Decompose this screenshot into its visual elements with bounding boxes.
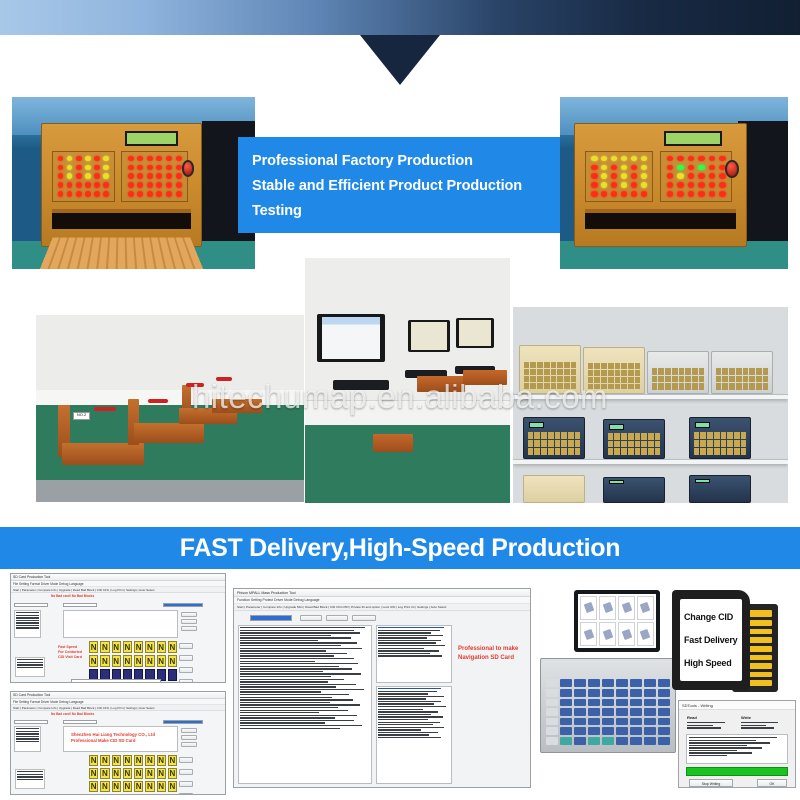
keyboard-1: [333, 380, 389, 390]
sd-feature-change-cid: Change CID: [684, 612, 738, 622]
machine-card-slot: [585, 209, 736, 228]
slot-cell: N: [145, 755, 154, 766]
duplicator-grey-2: [711, 351, 773, 394]
slot-cell: N: [168, 794, 177, 795]
programmer-slot-grid: [546, 679, 669, 744]
photo-shelf-back: [513, 307, 788, 503]
slot-cell: N: [112, 781, 121, 792]
slot-cell: N: [123, 641, 132, 653]
photo-shelf-edge: [36, 390, 304, 405]
log-pane-left[interactable]: [14, 610, 41, 638]
promo-line-1: Professional Factory Production: [252, 149, 546, 174]
window-title-bar-center[interactable]: Phison MPALL Mass Production Tool: [234, 589, 530, 597]
duplicator-lcd: [529, 422, 545, 428]
slot-cell: N: [145, 794, 154, 795]
slot-cell: N: [145, 768, 154, 779]
promo-text-overlay: Professional Factory Production Stable a…: [238, 137, 560, 233]
log-pane-left-center[interactable]: [238, 625, 372, 784]
slot-cell: N: [123, 781, 132, 792]
dialog-progress-bar: [686, 767, 788, 776]
slot-cell: N: [100, 794, 109, 795]
promo-line-3: Testing: [252, 199, 546, 224]
grid-side-button-2[interactable]: [179, 655, 193, 661]
company-note: Shenzhen Hui Liang Technology CO., Ltd P…: [71, 732, 178, 744]
slot-cell: N: [134, 768, 143, 779]
led-grid-right: [665, 155, 727, 198]
grid-side-button-3[interactable]: [179, 667, 193, 673]
slot-cell: N: [168, 641, 177, 653]
window-body-center: Professional to make Navigation SD Card: [234, 611, 530, 787]
grid-side-button-1[interactable]: [179, 757, 193, 763]
led-panel-right: [660, 151, 732, 202]
machine-body: [574, 123, 747, 247]
led-grid-right: [126, 155, 183, 198]
slot-cell: N: [134, 794, 143, 795]
duplicator-grey-1: [647, 351, 709, 394]
machine-card-slot: [52, 209, 191, 228]
duplicator-navy-1: [523, 417, 585, 459]
grid-side-button-4[interactable]: [179, 679, 193, 683]
slot-cell: N: [145, 641, 154, 653]
window-title-bar-bottom[interactable]: SD Card Production Tool: [11, 692, 225, 699]
programmer-base-unit: [540, 658, 676, 753]
programmer-monitor: [574, 590, 660, 652]
log-pane-main[interactable]: [63, 610, 178, 638]
duplicator-slot-grid: [652, 368, 705, 389]
duplicator-lcd: [695, 422, 711, 428]
slot-cell: N: [123, 755, 132, 766]
dialog-ok-button[interactable]: OK: [757, 779, 787, 787]
card-preview: [580, 596, 597, 620]
card-preview: [637, 622, 654, 646]
toolbar-button-3[interactable]: [181, 626, 197, 631]
monitor-2: [408, 320, 450, 352]
photo-shelf-duplicators: [513, 307, 788, 503]
speed-note-line2: For Contorted: [58, 650, 82, 655]
fixture-1-base: [62, 443, 144, 465]
slot-cell-selected: [168, 669, 177, 681]
photo-test-machine-right: [560, 97, 788, 269]
slot-cell: N: [145, 781, 154, 792]
progress-dialog[interactable]: SDTools - Writing Read Write Stop Writin…: [678, 700, 796, 788]
slot-cell: N: [157, 655, 166, 667]
slot-cell: N: [134, 781, 143, 792]
monitor-3: [456, 318, 494, 348]
duplicator-navy-2: [603, 419, 665, 459]
bench-fixture-1: [417, 376, 465, 392]
sd-feature-high-speed: High Speed: [684, 658, 738, 668]
slot-cell: N: [100, 641, 109, 653]
log-pane-right-center[interactable]: [376, 625, 452, 683]
duplicator-beige-3: [523, 475, 585, 503]
photo-test-machine-left: [12, 97, 255, 269]
card-slot-grid-top[interactable]: NNNNNNNN NNNNNNNN NNNNNNNN: [89, 641, 177, 683]
bench-fixture-2: [463, 370, 507, 385]
monitor-2-screen: [411, 322, 447, 350]
device-dropdown[interactable]: [250, 615, 292, 621]
led-grid-left: [56, 155, 110, 198]
photo-floor: [36, 480, 304, 502]
slot-cell: N: [123, 655, 132, 667]
status-bar-field[interactable]: [71, 679, 161, 683]
slot-cell: N: [112, 794, 121, 795]
company-tagline: Professional Make CID SD Card: [71, 738, 178, 744]
photo-wall: [36, 315, 304, 390]
page-root: Professional Factory Production Stable a…: [0, 0, 800, 800]
slot-cell: N: [89, 794, 98, 795]
duplicator-slot-grid: [524, 362, 577, 389]
duplicator-beige-1: [519, 345, 581, 394]
dialog-write-stats: [741, 722, 789, 730]
fast-delivery-text: FAST Delivery,High-Speed Production: [180, 534, 621, 563]
photo-workstation: [305, 258, 510, 503]
software-window-center[interactable]: Phison MPALL Mass Production Tool Functi…: [233, 588, 531, 788]
navigation-card-note: Professional to make Navigation SD Card: [458, 645, 518, 663]
grid-side-button-3[interactable]: [179, 781, 193, 787]
duplicator-navy-5: [689, 475, 751, 503]
slot-cell: N: [134, 641, 143, 653]
duplicator-slot-grid: [528, 432, 581, 455]
slot-cell: N: [112, 655, 121, 667]
card-preview: [599, 596, 616, 620]
fixture-2-base: [134, 423, 204, 443]
slot-cell: N: [157, 768, 166, 779]
monitor-1-screen: [322, 317, 381, 358]
slot-cell: N: [112, 641, 121, 653]
bench-fixture-3: [373, 434, 413, 452]
grid-side-button-4[interactable]: [179, 793, 193, 795]
duplicator-lcd: [695, 479, 711, 483]
navigation-note-line1: Professional to make: [458, 645, 518, 654]
fixture-2-handle: [148, 399, 168, 403]
slot-cell: N: [134, 755, 143, 766]
card-preview: [599, 622, 616, 646]
fixture-number-label: NO.2: [73, 412, 90, 420]
machine-lcd-display: [125, 131, 179, 146]
window-menu-bar-center[interactable]: Function Setting Protect Driver Mode Deb…: [234, 597, 530, 604]
slot-cell: N: [168, 755, 177, 766]
slot-cell: N: [89, 655, 98, 667]
slot-cell: N: [123, 768, 132, 779]
programmer-monitor-screen: [578, 594, 655, 649]
machine-lcd-display: [664, 131, 722, 146]
photo-bench-fixtures: NO.2: [36, 315, 304, 502]
duplicator-navy-3: [689, 417, 751, 459]
window-tab-bar-center[interactable]: Start | Parameter | Compare Info | Upgra…: [234, 604, 530, 611]
promo-line-2: Stable and Efficient Product Production: [252, 174, 546, 199]
software-window-top[interactable]: SD Card Production Tool File Setting For…: [10, 573, 226, 683]
machine-body: [41, 123, 201, 247]
slot-cell: N: [168, 781, 177, 792]
slot-cell: N: [134, 655, 143, 667]
duplicator-lcd: [609, 424, 625, 430]
duplicator-slot-grid: [694, 432, 747, 455]
param-field-1[interactable]: [14, 720, 48, 724]
slot-cell: N: [112, 755, 121, 766]
emergency-stop-button: [725, 160, 739, 178]
card-preview: [618, 622, 635, 646]
toolbar-button-2[interactable]: [181, 619, 197, 624]
slot-cell: N: [157, 781, 166, 792]
dialog-write-label: Write: [741, 715, 751, 720]
slot-cell: N: [145, 655, 154, 667]
fixture-1-handle: [94, 407, 116, 411]
toolbar-button-1[interactable]: [181, 612, 197, 617]
emergency-stop-button: [182, 160, 195, 177]
slot-cell: N: [89, 755, 98, 766]
status-pane-center[interactable]: [376, 686, 452, 784]
slot-cell: N: [100, 781, 109, 792]
advance-button[interactable]: [352, 615, 376, 621]
window-body-bottom: No Bad card! No Bad Blocks Shenzhen Hui …: [11, 711, 225, 794]
param-field-2[interactable]: [63, 603, 97, 607]
duplicator-slot-grid: [716, 368, 769, 389]
slot-cell: N: [157, 641, 166, 653]
status-field-blue[interactable]: [163, 603, 203, 607]
slot-cell: N: [100, 768, 109, 779]
duplicator-slot-grid: [588, 363, 641, 389]
slot-cell: N: [112, 768, 121, 779]
sd-card-graphic: Change CID Fast Delivery High Speed: [672, 590, 792, 695]
slot-cell: N: [168, 655, 177, 667]
software-window-bottom[interactable]: SD Card Production Tool File Setting For…: [10, 691, 226, 795]
slot-cell: N: [100, 755, 109, 766]
dialog-read-label: Read: [687, 715, 697, 720]
monitor-1: [317, 314, 385, 362]
led-grid-left: [590, 155, 649, 198]
led-panel-left: [585, 151, 654, 202]
param-field-2[interactable]: [63, 720, 97, 724]
header-warning-note: No Bad card! No Bad Blocks: [51, 594, 94, 598]
dialog-cancel-button[interactable]: Stop Writing: [689, 779, 733, 787]
top-gradient-banner: [0, 0, 800, 35]
info-pane-bottom-left[interactable]: [15, 769, 45, 789]
machine-card-tray: [38, 237, 205, 269]
dialog-log-area[interactable]: [686, 734, 788, 764]
company-note-pane[interactable]: Shenzhen Hui Liang Technology CO., Ltd P…: [63, 726, 178, 752]
led-panel-left: [52, 151, 115, 202]
navigation-note-line2: Navigation SD Card: [458, 654, 518, 663]
duplicator-lcd: [609, 480, 625, 484]
monitor-3-screen: [459, 320, 492, 346]
card-preview: [580, 622, 597, 646]
dialog-read-stats: [687, 722, 735, 730]
speed-note-line3: CID Visit Card: [58, 655, 82, 660]
param-field-1[interactable]: [14, 603, 48, 607]
card-slot-grid-bottom[interactable]: NNNNNNNN NNNNNNNN NNNNNNNN NNNNNNNN: [89, 755, 177, 795]
info-pane-bottom-left[interactable]: [15, 657, 45, 677]
grid-side-button-1[interactable]: [179, 643, 193, 649]
fast-delivery-banner: FAST Delivery,High-Speed Production: [0, 527, 800, 569]
card-preview: [618, 596, 635, 620]
flash-button[interactable]: [300, 615, 322, 621]
sd-feature-fast-delivery: Fast Delivery: [684, 635, 738, 645]
shelf-board-1: [513, 394, 788, 399]
slot-cell: N: [168, 768, 177, 779]
speed-note-top: Fast Speed For Contorted CID Visit Card: [58, 645, 82, 660]
fixture-3-handle: [186, 383, 204, 387]
slot-cell: N: [123, 794, 132, 795]
slot-cell: N: [157, 755, 166, 766]
led-panel-right: [121, 151, 188, 202]
card-preview: [637, 596, 654, 620]
slot-cell: N: [100, 655, 109, 667]
duplicator-slot-grid: [608, 433, 661, 455]
sd-card-front: Change CID Fast Delivery High Speed: [672, 590, 750, 690]
sd-card-label: Change CID Fast Delivery High Speed: [680, 599, 742, 681]
fixture-4-handle: [216, 377, 232, 381]
toolbar-button-1[interactable]: [181, 728, 197, 733]
status-field-blue[interactable]: [163, 720, 203, 724]
photo-programmer-machine: [522, 588, 682, 788]
grid-side-button-2[interactable]: [179, 769, 193, 775]
toolbar-button-3[interactable]: [181, 742, 197, 747]
duplicator-beige-2: [583, 347, 645, 394]
slot-cell: N: [157, 794, 166, 795]
log-pane-left[interactable]: [14, 726, 41, 752]
slot-cell: N: [89, 641, 98, 653]
fixture-4-base: [212, 399, 262, 413]
slot-cell: N: [89, 781, 98, 792]
window-body-top: No Bad card! No Bad Blocks Fast Speed Fo…: [11, 593, 225, 682]
window-title-bar-top[interactable]: SD Card Production Tool: [11, 574, 225, 581]
shelf-board-2: [513, 459, 788, 464]
header-warning-note-bottom: No Bad card! No Bad Blocks: [51, 712, 94, 716]
dialog-title-bar[interactable]: SDTools - Writing: [679, 701, 795, 710]
save-button[interactable]: [326, 615, 348, 621]
slot-cell: N: [89, 768, 98, 779]
duplicator-navy-4: [603, 477, 665, 503]
top-banner-notch: [360, 35, 440, 85]
photo-bench-top: [305, 400, 510, 425]
toolbar-button-2[interactable]: [181, 735, 197, 740]
